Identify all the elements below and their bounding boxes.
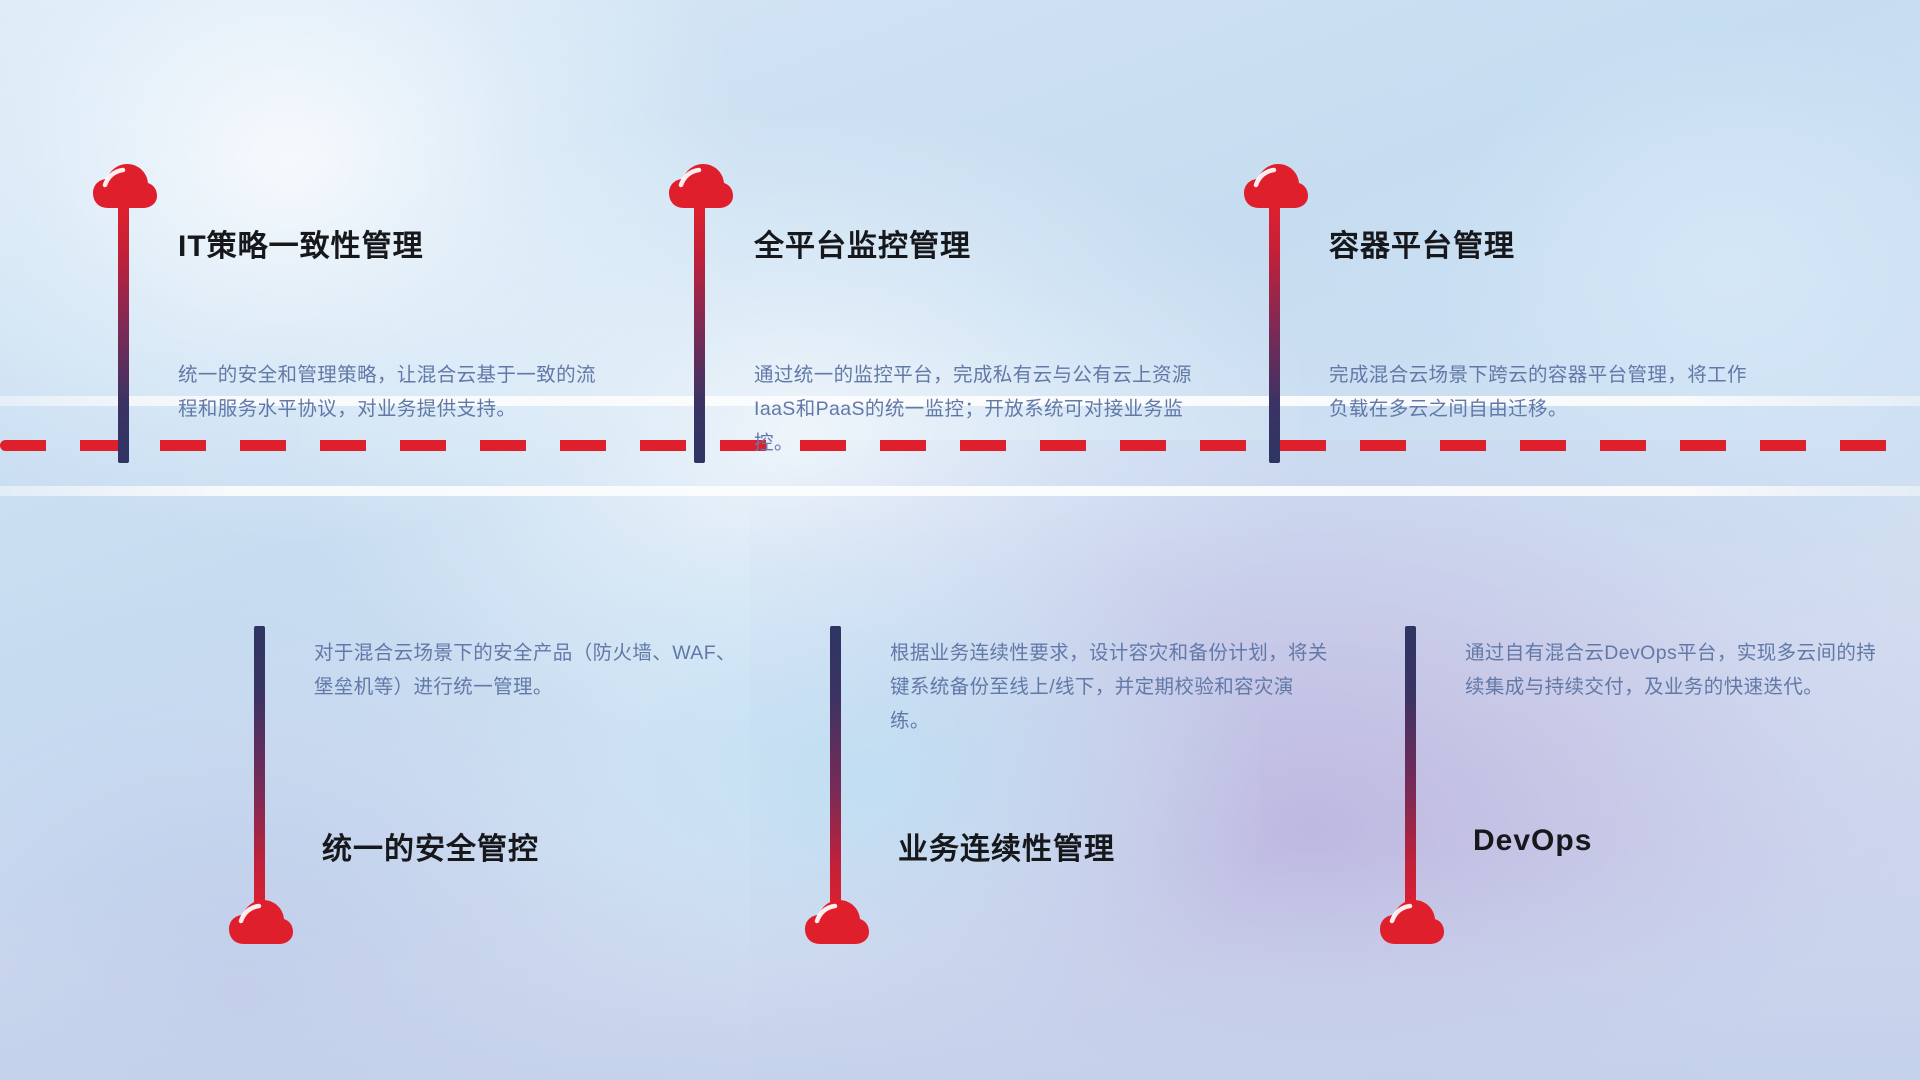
connector-stem xyxy=(830,626,841,914)
top-column-3-title: 容器平台管理 xyxy=(1329,221,1515,265)
background-bottom-fade xyxy=(0,850,1920,1080)
bottom-column-3-title: DevOps xyxy=(1473,824,1592,858)
bottom-column-2-body: 根据业务连续性要求，设计容灾和备份计划，将关键系统备份至线上/线下，并定期校验和… xyxy=(890,636,1330,738)
bottom-column-3-body: 通过自有混合云DevOps平台，实现多云间的持续集成与持续交付，及业务的快速迭代… xyxy=(1465,636,1890,704)
cloud-icon xyxy=(1243,162,1309,210)
top-column-3-body: 完成混合云场景下跨云的容器平台管理，将工作负载在多云之间自由迁移。 xyxy=(1329,358,1754,426)
cloud-icon xyxy=(804,898,870,946)
divider-bar-bottom xyxy=(0,486,1920,496)
cloud-icon xyxy=(1379,898,1445,946)
top-column-1-body: 统一的安全和管理策略，让混合云基于一致的流程和服务水平协议，对业务提供支持。 xyxy=(178,358,608,426)
bottom-column-2-title: 业务连续性管理 xyxy=(898,824,1115,868)
connector-stem xyxy=(1269,205,1280,463)
cloud-icon xyxy=(92,162,158,210)
top-column-2-title: 全平台监控管理 xyxy=(754,221,971,265)
connector-stem xyxy=(694,205,705,463)
cloud-icon xyxy=(668,162,734,210)
bottom-column-1-title: 统一的安全管控 xyxy=(322,824,539,868)
connector-stem xyxy=(1405,626,1416,914)
top-column-1-title: IT策略一致性管理 xyxy=(178,221,424,265)
bottom-column-1-body: 对于混合云场景下的安全产品（防火墙、WAF、堡垒机等）进行统一管理。 xyxy=(314,636,744,704)
top-column-2-body: 通过统一的监控平台，完成私有云与公有云上资源IaaS和PaaS的统一监控；开放系… xyxy=(754,358,1194,460)
connector-stem xyxy=(254,626,265,914)
cloud-icon xyxy=(228,898,294,946)
connector-stem xyxy=(118,205,129,463)
